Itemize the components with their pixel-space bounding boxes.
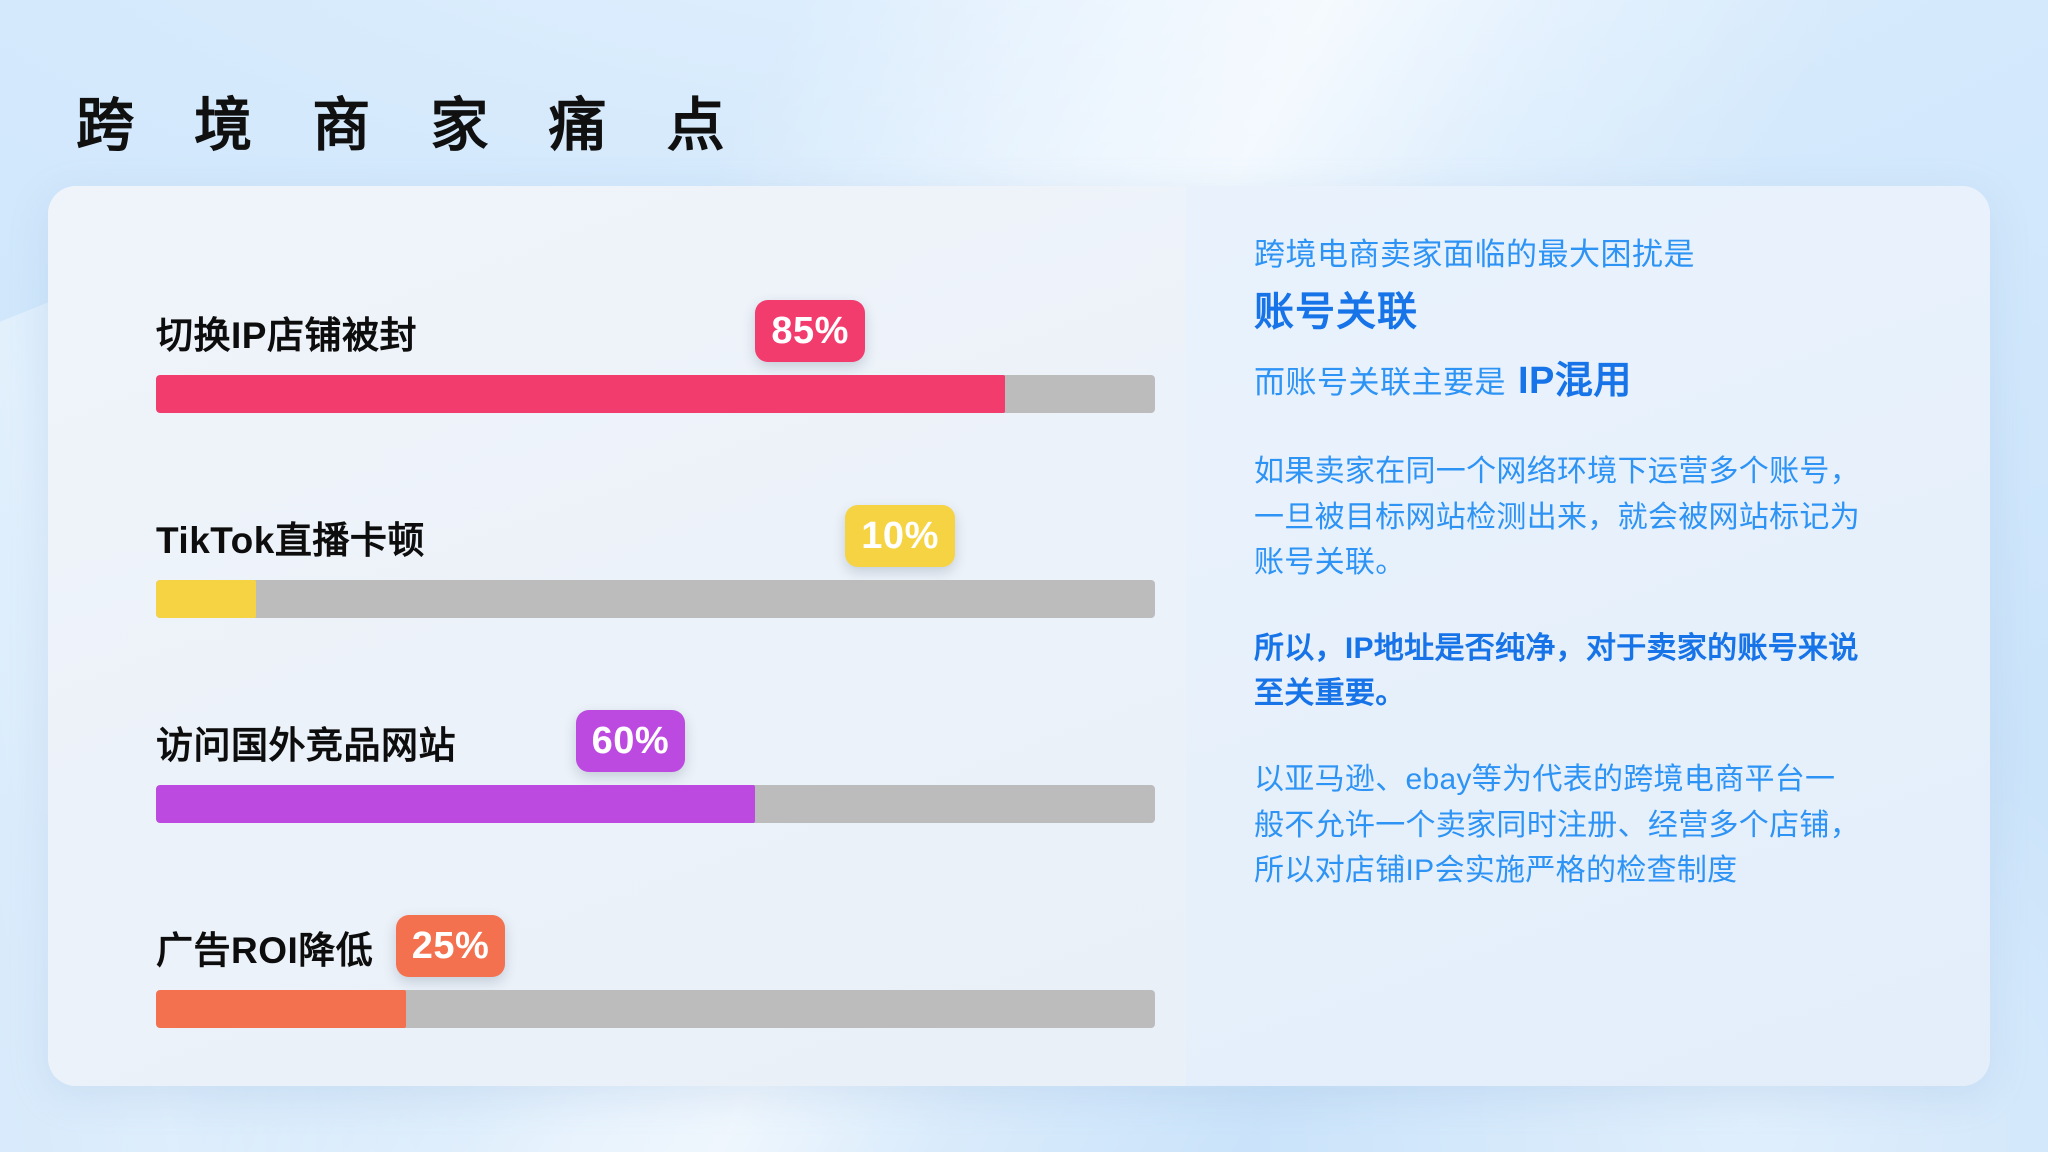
page-title: 跨 境 商 家 痛 点 [76,97,747,155]
chart-panel: 切换IP店铺被封 85% TikTok直播卡顿 10% [48,186,1186,1086]
bar-value-badge: 25% [396,915,506,977]
bar-track [156,785,1155,823]
bar-value-badge: 60% [576,710,686,772]
bar-fill [156,375,1005,413]
bar-row: 访问国外竞品网站 60% [156,660,1155,865]
paragraph-line: 所以对店铺IP会实施严格的检查制度 [1254,848,1990,894]
bar-header: 广告ROI降低 25% [156,865,1155,983]
info-lead-strong: 账号关联 [1254,283,1990,341]
bar-fill [156,990,406,1028]
info-text-block: 跨境电商卖家面临的最大困扰是 账号关联 而账号关联主要是IP混用 如果卖家在同一… [1254,233,1990,894]
paragraph-line: 一旦被目标网站检测出来，就会被网站标记为 [1254,495,1990,541]
bar-fill [156,580,256,618]
bar-label: 访问国外竞品网站 [156,727,456,764]
info-lead-line: 跨境电商卖家面临的最大困扰是 [1254,233,1990,277]
info-lead-mix: 而账号关联主要是IP混用 [1254,355,1990,409]
bar-header: TikTok直播卡顿 10% [156,455,1155,573]
paragraph-line: 所以，IP地址是否纯净，对于卖家的账号来说 [1254,626,1990,672]
paragraph-line: 如果卖家在同一个网络环境下运营多个账号， [1254,449,1990,495]
paragraph-line: 账号关联。 [1254,540,1990,586]
info-paragraph-3: 以亚马逊、ebay等为代表的跨境电商平台一 般不允许一个卖家同时注册、经营多个店… [1254,757,1990,894]
bar-value-badge: 10% [845,505,955,567]
bar-label: 广告ROI降低 [156,932,373,969]
bar-track [156,580,1155,618]
bar-chart: 切换IP店铺被封 85% TikTok直播卡顿 10% [156,250,1155,1070]
bar-label: 切换IP店铺被封 [156,317,417,354]
bar-header: 访问国外竞品网站 60% [156,660,1155,778]
info-lead-mix-prefix: 而账号关联主要是 [1254,365,1506,400]
slide-root: 跨 境 商 家 痛 点 切换IP店铺被封 85% TikTok直播卡顿 [0,0,2048,1152]
bar-track [156,990,1155,1028]
paragraph-line: 以亚马逊、ebay等为代表的跨境电商平台一 [1254,757,1990,803]
info-lead-mix-highlight: IP混用 [1518,360,1632,402]
info-paragraph-1: 如果卖家在同一个网络环境下运营多个账号， 一旦被目标网站检测出来，就会被网站标记… [1254,449,1990,586]
info-paragraph-2: 所以，IP地址是否纯净，对于卖家的账号来说 至关重要。 [1254,626,1990,717]
bar-track [156,375,1155,413]
info-panel: 跨境电商卖家面临的最大困扰是 账号关联 而账号关联主要是IP混用 如果卖家在同一… [1186,186,1990,1086]
bar-row: TikTok直播卡顿 10% [156,455,1155,660]
bar-header: 切换IP店铺被封 85% [156,250,1155,368]
paragraph-line: 般不允许一个卖家同时注册、经营多个店铺， [1254,803,1990,849]
content-card: 切换IP店铺被封 85% TikTok直播卡顿 10% [48,186,1990,1086]
bar-value-badge: 85% [755,300,865,362]
bar-label: TikTok直播卡顿 [156,522,425,559]
bar-fill [156,785,755,823]
bar-row: 切换IP店铺被封 85% [156,250,1155,455]
bar-row: 广告ROI降低 25% [156,865,1155,1070]
paragraph-line: 至关重要。 [1254,671,1990,717]
